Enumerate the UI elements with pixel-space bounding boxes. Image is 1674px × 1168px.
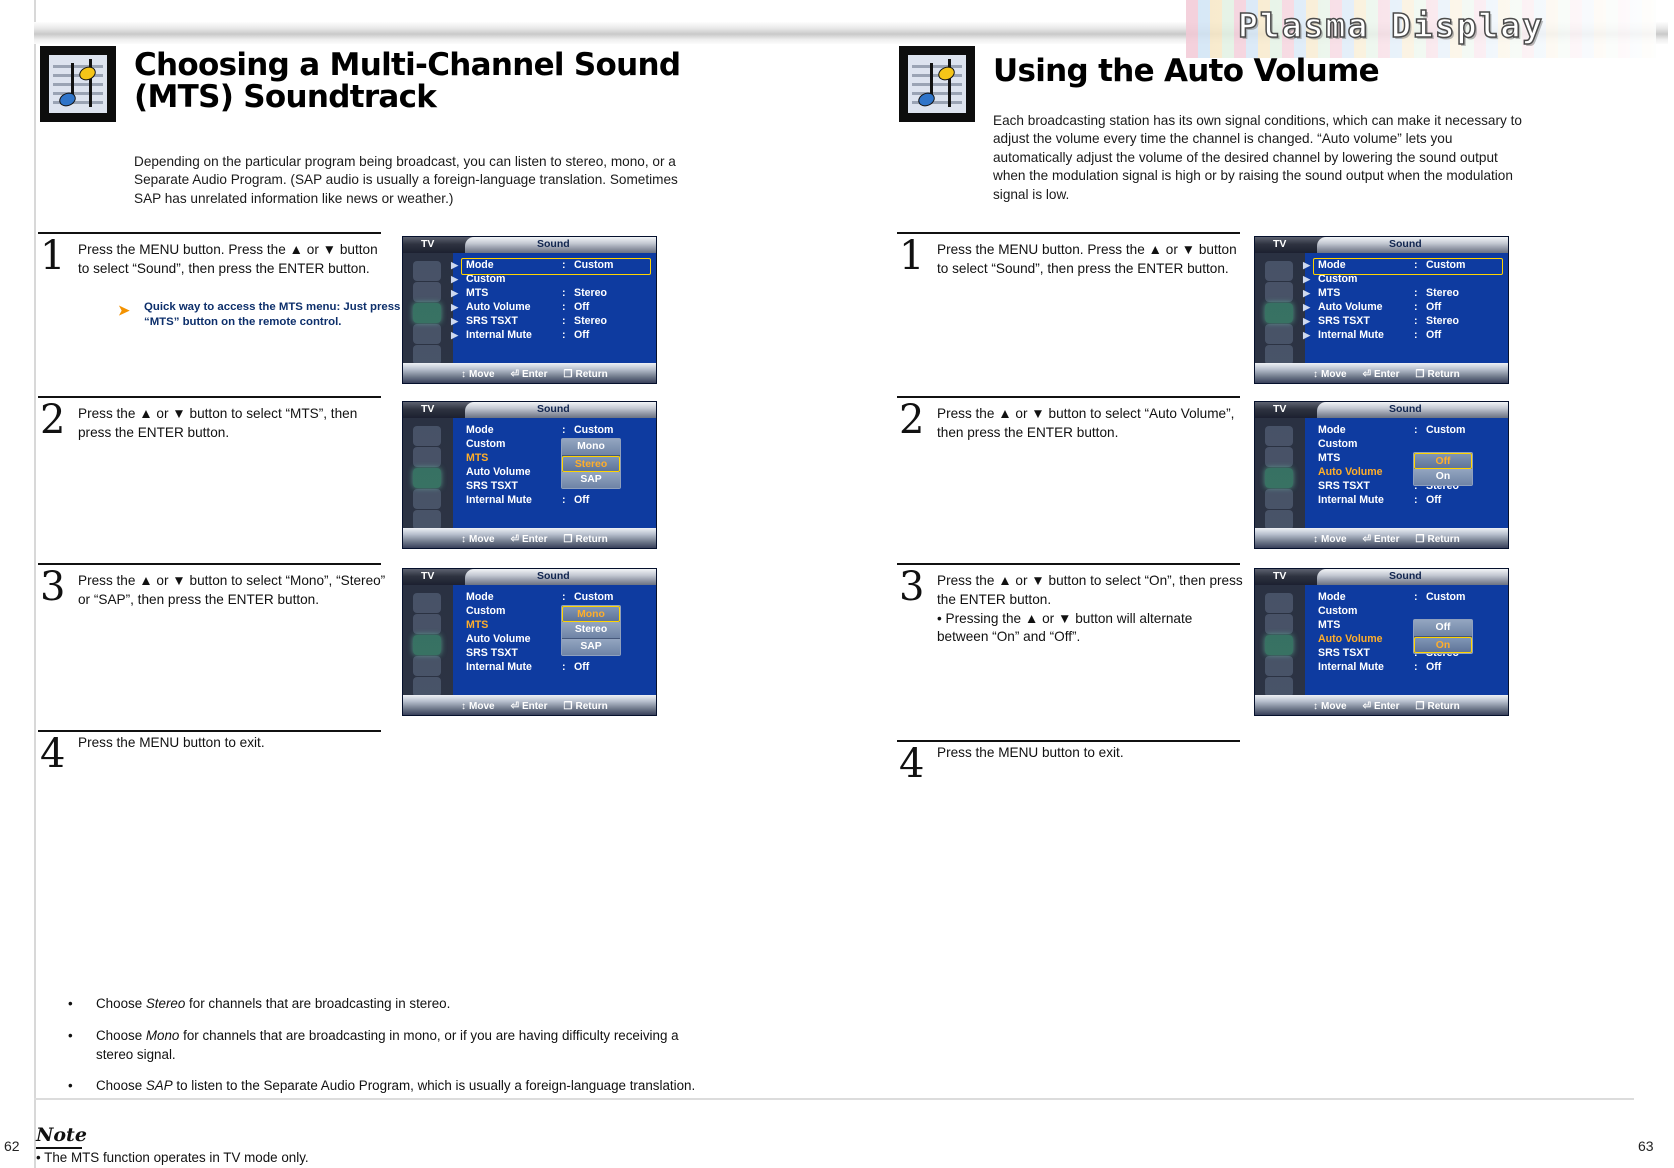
- chevron-right-icon: ▶: [451, 302, 458, 313]
- osd-selection-highlight: [1313, 258, 1503, 275]
- osd-row-colon: :: [562, 287, 566, 299]
- osd-row-label: MTS: [466, 452, 488, 464]
- osd-footer-items: ↕Move⏎Enter❐Return: [461, 534, 624, 545]
- osd-menu-title: Sound: [1389, 570, 1422, 582]
- chevron-right-icon: ▶: [1303, 274, 1310, 285]
- osd-footer-enter-label: Enter: [522, 701, 548, 712]
- osd-dropdown[interactable]: OffOn: [1413, 452, 1473, 486]
- chevron-right-icon: ▶: [1303, 302, 1310, 313]
- osd-row-label: SRS TSXT: [466, 480, 518, 492]
- step-text: Press the ▲ or ▼ button to select “Mono”…: [78, 572, 388, 610]
- osd-footer-move[interactable]: ↕Move: [461, 701, 495, 712]
- osd-row-colon: :: [562, 494, 566, 506]
- osd-footer-enter-icon: ⏎: [511, 369, 519, 380]
- osd-footer-return[interactable]: ❐Return: [564, 534, 608, 545]
- osd-row-value: Stereo: [1426, 315, 1459, 327]
- osd-row-label: SRS TSXT: [466, 315, 518, 327]
- osd-screen-mts-step2: TVSoundMode:CustomCustomMTS:StereoAuto V…: [403, 402, 656, 548]
- osd-picture-icon[interactable]: [413, 282, 441, 302]
- step-number: 1: [40, 236, 65, 276]
- step-text: Press the ▲ or ▼ button to select “On”, …: [937, 572, 1247, 647]
- section-intro: Depending on the particular program bein…: [134, 153, 694, 208]
- page-title: Using the Auto Volume: [993, 56, 1553, 88]
- osd-row-value: Stereo: [574, 315, 607, 327]
- osd-footer-move-icon: ↕: [1313, 534, 1318, 545]
- osd-setup-icon[interactable]: [413, 677, 441, 697]
- osd-title-bar: TVSound: [403, 402, 656, 418]
- osd-row-value: Custom: [574, 424, 613, 436]
- osd-footer-return-icon: ❐: [1416, 534, 1425, 545]
- osd-row-colon: :: [562, 329, 566, 341]
- osd-row-colon: :: [1414, 661, 1418, 673]
- step-text: Press the MENU button to exit.: [78, 734, 383, 753]
- osd-dropdown-option-off[interactable]: Off: [1414, 620, 1472, 637]
- osd-row-label: Auto Volume: [466, 633, 531, 645]
- osd-row-label: Internal Mute: [466, 329, 532, 341]
- bullet-list: Choose Stereo for channels that are broa…: [96, 995, 716, 1109]
- osd-row-colon: :: [1414, 315, 1418, 327]
- osd-source-label: TV: [1273, 570, 1286, 582]
- chevron-right-icon: ▶: [451, 274, 458, 285]
- osd-row-value: Off: [574, 494, 589, 506]
- osd-row-label: Internal Mute: [466, 494, 532, 506]
- osd-menu-body: Mode:CustomCustomMTS:StereoAuto Volume:O…: [453, 418, 656, 528]
- chevron-right-icon: ▶: [1303, 288, 1310, 299]
- osd-footer-enter-icon: ⏎: [1363, 701, 1371, 712]
- osd-row-label: Custom: [1318, 605, 1357, 617]
- osd-footer-return-label: Return: [575, 534, 607, 545]
- osd-row-label: Auto Volume: [1318, 466, 1383, 478]
- osd-row-colon: :: [1414, 591, 1418, 603]
- osd-channel-icon[interactable]: [1265, 324, 1293, 344]
- osd-footer-enter-icon: ⏎: [511, 701, 519, 712]
- osd-row-label: Internal Mute: [1318, 661, 1384, 673]
- osd-footer-move-icon: ↕: [1313, 369, 1318, 380]
- osd-sound-icon[interactable]: [413, 468, 441, 488]
- osd-source-label: TV: [421, 403, 434, 415]
- step-number: 3: [899, 567, 924, 607]
- page-number-right: 63: [1638, 1138, 1654, 1154]
- osd-row-label: Mode: [1318, 424, 1346, 436]
- osd-source-label: TV: [421, 570, 434, 582]
- osd-footer-enter[interactable]: ⏎Enter: [1363, 701, 1400, 712]
- chevron-right-icon: ▶: [451, 330, 458, 341]
- osd-menu-body: Mode:CustomCustomMTS:StereoAuto Volume:O…: [1305, 418, 1508, 528]
- osd-footer-return-icon: ❐: [564, 369, 573, 380]
- osd-footer-move-icon: ↕: [461, 369, 466, 380]
- osd-row-colon: :: [1414, 287, 1418, 299]
- osd-footer-move-label: Move: [469, 369, 495, 380]
- osd-row-value: Stereo: [1426, 287, 1459, 299]
- osd-footer-enter[interactable]: ⏎Enter: [1363, 369, 1400, 380]
- osd-antenna-icon[interactable]: [1265, 261, 1293, 281]
- osd-dropdown-option-mono[interactable]: Mono: [562, 606, 620, 622]
- osd-setup-icon[interactable]: [1265, 510, 1293, 530]
- list-item: Choose Mono for channels that are broadc…: [96, 1027, 716, 1065]
- osd-footer-return[interactable]: ❐Return: [564, 701, 608, 712]
- osd-sound-icon[interactable]: [413, 635, 441, 655]
- osd-channel-icon[interactable]: [413, 324, 441, 344]
- osd-row-label: Auto Volume: [1318, 633, 1383, 645]
- osd-row-value: Off: [1426, 329, 1441, 341]
- osd-footer-enter-label: Enter: [1374, 534, 1400, 545]
- osd-row-colon: :: [562, 661, 566, 673]
- osd-footer-enter[interactable]: ⏎Enter: [511, 369, 548, 380]
- osd-screen-autovol-step3: TVSoundMode:CustomCustomMTS:StereoAuto V…: [1255, 569, 1508, 715]
- step-text: Press the ▲ or ▼ button to select “MTS”,…: [78, 405, 383, 443]
- osd-menu-title-plate: Sound: [1317, 402, 1508, 418]
- osd-footer-return-icon: ❐: [1416, 701, 1425, 712]
- osd-row-value: Off: [1426, 661, 1441, 673]
- osd-screen-mts-step1: TVSoundMode:Custom▶Custom▶MTS:Stereo▶Aut…: [403, 237, 656, 383]
- osd-footer-items: ↕Move⏎Enter❐Return: [1313, 701, 1476, 712]
- osd-title-bar: TVSound: [1255, 237, 1508, 253]
- osd-antenna-icon[interactable]: [413, 593, 441, 613]
- osd-row-label: Custom: [466, 605, 505, 617]
- osd-dropdown-option-on[interactable]: On: [1414, 637, 1472, 653]
- osd-selection-highlight: [461, 258, 651, 275]
- chevron-right-icon: ▶: [451, 316, 458, 327]
- osd-sound-icon[interactable]: [1265, 303, 1293, 323]
- osd-row-value: Off: [1426, 301, 1441, 313]
- osd-row-label: Internal Mute: [466, 661, 532, 673]
- osd-source-label: TV: [1273, 238, 1286, 250]
- osd-row-value: Off: [574, 661, 589, 673]
- osd-menu-body: Mode:Custom▶Custom▶MTS:Stereo▶Auto Volum…: [1305, 253, 1508, 363]
- osd-footer-enter[interactable]: ⏎Enter: [511, 701, 548, 712]
- step-number: 4: [40, 734, 65, 774]
- osd-footer-move[interactable]: ↕Move: [1313, 369, 1347, 380]
- osd-menu-title: Sound: [537, 238, 570, 250]
- osd-title-bar: TVSound: [403, 237, 656, 253]
- osd-dropdown[interactable]: OffOn: [1413, 619, 1473, 654]
- osd-footer-enter-label: Enter: [522, 369, 548, 380]
- step-number: 1: [899, 236, 924, 276]
- osd-footer-return[interactable]: ❐Return: [1416, 534, 1460, 545]
- osd-channel-icon[interactable]: [1265, 656, 1293, 676]
- step-rule: [38, 232, 381, 234]
- osd-row-label: SRS TSXT: [1318, 480, 1370, 492]
- osd-menu-title-plate: Sound: [1317, 237, 1508, 253]
- music-note-icon: [40, 46, 116, 122]
- osd-row-label: MTS: [466, 287, 488, 299]
- osd-setup-icon[interactable]: [413, 510, 441, 530]
- step-number: 3: [40, 567, 65, 607]
- osd-row-label: SRS TSXT: [466, 647, 518, 659]
- osd-row-label: Mode: [466, 591, 494, 603]
- note-body: • The MTS function operates in TV mode o…: [36, 1150, 309, 1165]
- osd-row-label: Auto Volume: [1318, 301, 1383, 313]
- osd-footer-items: ↕Move⏎Enter❐Return: [461, 701, 624, 712]
- chevron-right-icon: ▶: [1303, 330, 1310, 341]
- osd-footer-enter-label: Enter: [1374, 701, 1400, 712]
- osd-row-label: Custom: [466, 438, 505, 450]
- chevron-right-icon: ▶: [1303, 260, 1310, 271]
- osd-row-value: Custom: [574, 591, 613, 603]
- osd-footer-return-icon: ❐: [564, 534, 573, 545]
- osd-row-label: MTS: [466, 619, 488, 631]
- chevron-right-icon: ▶: [451, 260, 458, 271]
- osd-sound-icon[interactable]: [413, 303, 441, 323]
- osd-dropdown-option-stereo[interactable]: Stereo: [562, 622, 620, 639]
- osd-row-label: MTS: [1318, 619, 1340, 631]
- osd-row-label: Mode: [1318, 591, 1346, 603]
- chevron-right-icon: ▶: [451, 288, 458, 299]
- osd-antenna-icon[interactable]: [413, 426, 441, 446]
- osd-antenna-icon[interactable]: [1265, 426, 1293, 446]
- osd-menu-body: Mode:Custom▶Custom▶MTS:Stereo▶Auto Volum…: [453, 253, 656, 363]
- osd-setup-icon[interactable]: [413, 345, 441, 365]
- osd-footer-return[interactable]: ❐Return: [1416, 701, 1460, 712]
- osd-row-value: Stereo: [574, 287, 607, 299]
- chevron-right-icon: ▶: [1303, 316, 1310, 327]
- osd-screen-mts-step3: TVSoundMode:CustomCustomMTS:StereoAuto V…: [403, 569, 656, 715]
- osd-footer-move-label: Move: [469, 701, 495, 712]
- osd-dropdown-option-sap[interactable]: SAP: [562, 472, 620, 488]
- osd-menu-title: Sound: [1389, 238, 1422, 250]
- osd-row-label: MTS: [1318, 287, 1340, 299]
- osd-antenna-icon[interactable]: [413, 261, 441, 281]
- osd-footer-return-icon: ❐: [1416, 369, 1425, 380]
- list-item: Choose Stereo for channels that are broa…: [96, 995, 716, 1014]
- page-title: Choosing a Multi-Channel Sound (MTS) Sou…: [134, 50, 734, 114]
- osd-picture-icon[interactable]: [413, 447, 441, 467]
- osd-footer-enter-icon: ⏎: [511, 534, 519, 545]
- osd-row-colon: :: [562, 424, 566, 436]
- osd-source-label: TV: [1273, 403, 1286, 415]
- osd-row-label: Auto Volume: [466, 466, 531, 478]
- tip-callout-text: Quick way to access the MTS menu: Just p…: [144, 301, 421, 328]
- osd-source-label: TV: [421, 238, 434, 250]
- page-spine: [0, 0, 36, 1168]
- osd-dropdown-option-stereo[interactable]: Stereo: [562, 456, 620, 472]
- section-intro: Each broadcasting station has its own si…: [993, 112, 1527, 204]
- osd-picture-icon[interactable]: [1265, 614, 1293, 634]
- osd-menu-body: Mode:CustomCustomMTS:StereoAuto Volume:O…: [453, 585, 656, 695]
- osd-setup-icon[interactable]: [1265, 345, 1293, 365]
- step-text: Press the MENU button to exit.: [937, 744, 1242, 763]
- osd-footer-items: ↕Move⏎Enter❐Return: [1313, 369, 1476, 380]
- step-text: Press the MENU button. Press the ▲ or ▼ …: [78, 241, 383, 279]
- note-heading: Note: [36, 1124, 87, 1146]
- osd-dropdown-option-sap[interactable]: SAP: [562, 639, 620, 655]
- osd-footer-move-icon: ↕: [461, 534, 466, 545]
- osd-channel-icon[interactable]: [1265, 489, 1293, 509]
- osd-footer-items: ↕Move⏎Enter❐Return: [461, 369, 624, 380]
- osd-row-colon: :: [562, 591, 566, 603]
- osd-picture-icon[interactable]: [1265, 282, 1293, 302]
- osd-row-value: Custom: [1426, 424, 1465, 436]
- osd-footer-move[interactable]: ↕Move: [1313, 701, 1347, 712]
- step-number: 4: [899, 744, 924, 784]
- osd-row-value: Custom: [1426, 591, 1465, 603]
- osd-footer-return[interactable]: ❐Return: [564, 369, 608, 380]
- osd-row-label: SRS TSXT: [1318, 315, 1370, 327]
- step-text: Press the MENU button. Press the ▲ or ▼ …: [937, 241, 1242, 279]
- osd-row-colon: :: [1414, 424, 1418, 436]
- osd-footer-move-label: Move: [1321, 701, 1347, 712]
- step-number: 2: [899, 400, 924, 440]
- osd-screen-autovol-step1: TVSoundMode:Custom▶Custom▶MTS:Stereo▶Aut…: [1255, 237, 1508, 383]
- osd-dropdown[interactable]: MonoStereoSAP: [561, 605, 621, 656]
- osd-picture-icon[interactable]: [413, 614, 441, 634]
- osd-row-colon: :: [562, 301, 566, 313]
- osd-footer-return[interactable]: ❐Return: [1416, 369, 1460, 380]
- step-text: Press the ▲ or ▼ button to select “Auto …: [937, 405, 1242, 443]
- tip-callout: ➤ Quick way to access the MTS menu: Just…: [144, 300, 434, 330]
- osd-dropdown-option-on[interactable]: On: [1414, 469, 1472, 485]
- right-edge: [1668, 0, 1674, 1168]
- osd-footer-return-label: Return: [575, 369, 607, 380]
- osd-footer-enter-icon: ⏎: [1363, 369, 1371, 380]
- osd-footer-enter-icon: ⏎: [1363, 534, 1371, 545]
- osd-footer-items: ↕Move⏎Enter❐Return: [1313, 534, 1476, 545]
- osd-footer-return-icon: ❐: [564, 701, 573, 712]
- osd-channel-icon[interactable]: [413, 489, 441, 509]
- osd-title-bar: TVSound: [1255, 402, 1508, 418]
- osd-row-label: Mode: [466, 424, 494, 436]
- osd-row-label: SRS TSXT: [1318, 647, 1370, 659]
- osd-menu-title-plate: Sound: [465, 237, 656, 253]
- osd-row-colon: :: [1414, 329, 1418, 341]
- osd-setup-icon[interactable]: [1265, 677, 1293, 697]
- osd-row-value: Off: [574, 301, 589, 313]
- osd-footer-move[interactable]: ↕Move: [461, 369, 495, 380]
- page-number-left: 62: [4, 1138, 20, 1154]
- osd-footer-move-label: Move: [1321, 369, 1347, 380]
- osd-dropdown-option-off[interactable]: Off: [1414, 453, 1472, 469]
- osd-row-colon: :: [1414, 494, 1418, 506]
- osd-menu-body: Mode:CustomCustomMTS:StereoAuto Volume:O…: [1305, 585, 1508, 695]
- osd-footer-move-icon: ↕: [1313, 701, 1318, 712]
- osd-menu-title: Sound: [537, 570, 570, 582]
- osd-title-bar: TVSound: [403, 569, 656, 585]
- osd-row-label: Internal Mute: [1318, 329, 1384, 341]
- osd-picture-icon[interactable]: [1265, 447, 1293, 467]
- osd-row-label: Auto Volume: [466, 301, 531, 313]
- osd-footer-enter[interactable]: ⏎Enter: [511, 534, 548, 545]
- osd-footer-enter[interactable]: ⏎Enter: [1363, 534, 1400, 545]
- osd-footer-return-label: Return: [1427, 534, 1459, 545]
- osd-sound-icon[interactable]: [1265, 635, 1293, 655]
- osd-row-label: MTS: [1318, 452, 1340, 464]
- osd-menu-title-plate: Sound: [465, 569, 656, 585]
- osd-menu-title: Sound: [1389, 403, 1422, 415]
- osd-row-colon: :: [562, 315, 566, 327]
- osd-footer-move-label: Move: [469, 534, 495, 545]
- osd-menu-title-plate: Sound: [465, 402, 656, 418]
- music-note-icon: [899, 46, 975, 122]
- osd-row-label: Custom: [1318, 438, 1357, 450]
- osd-row-value: Off: [574, 329, 589, 341]
- osd-footer-move-icon: ↕: [461, 701, 466, 712]
- osd-footer-enter-label: Enter: [1374, 369, 1400, 380]
- osd-footer-move[interactable]: ↕Move: [461, 534, 495, 545]
- step-number: 2: [40, 400, 65, 440]
- osd-menu-title: Sound: [537, 403, 570, 415]
- osd-footer-move[interactable]: ↕Move: [1313, 534, 1347, 545]
- osd-sound-icon[interactable]: [1265, 468, 1293, 488]
- osd-footer-move-label: Move: [1321, 534, 1347, 545]
- osd-footer-return-label: Return: [575, 701, 607, 712]
- osd-title-bar: TVSound: [1255, 569, 1508, 585]
- list-item: Choose SAP to listen to the Separate Aud…: [96, 1077, 716, 1096]
- osd-antenna-icon[interactable]: [1265, 593, 1293, 613]
- osd-row-value: Off: [1426, 494, 1441, 506]
- osd-footer-return-label: Return: [1427, 701, 1459, 712]
- osd-dropdown[interactable]: MonoStereoSAP: [561, 438, 621, 489]
- osd-channel-icon[interactable]: [413, 656, 441, 676]
- arrow-icon: ➤: [118, 301, 130, 319]
- osd-footer-return-label: Return: [1427, 369, 1459, 380]
- osd-menu-title-plate: Sound: [1317, 569, 1508, 585]
- osd-row-colon: :: [1414, 301, 1418, 313]
- osd-row-label: Internal Mute: [1318, 494, 1384, 506]
- osd-dropdown-option-mono[interactable]: Mono: [562, 439, 620, 456]
- osd-footer-enter-label: Enter: [522, 534, 548, 545]
- osd-screen-autovol-step2: TVSoundMode:CustomCustomMTS:StereoAuto V…: [1255, 402, 1508, 548]
